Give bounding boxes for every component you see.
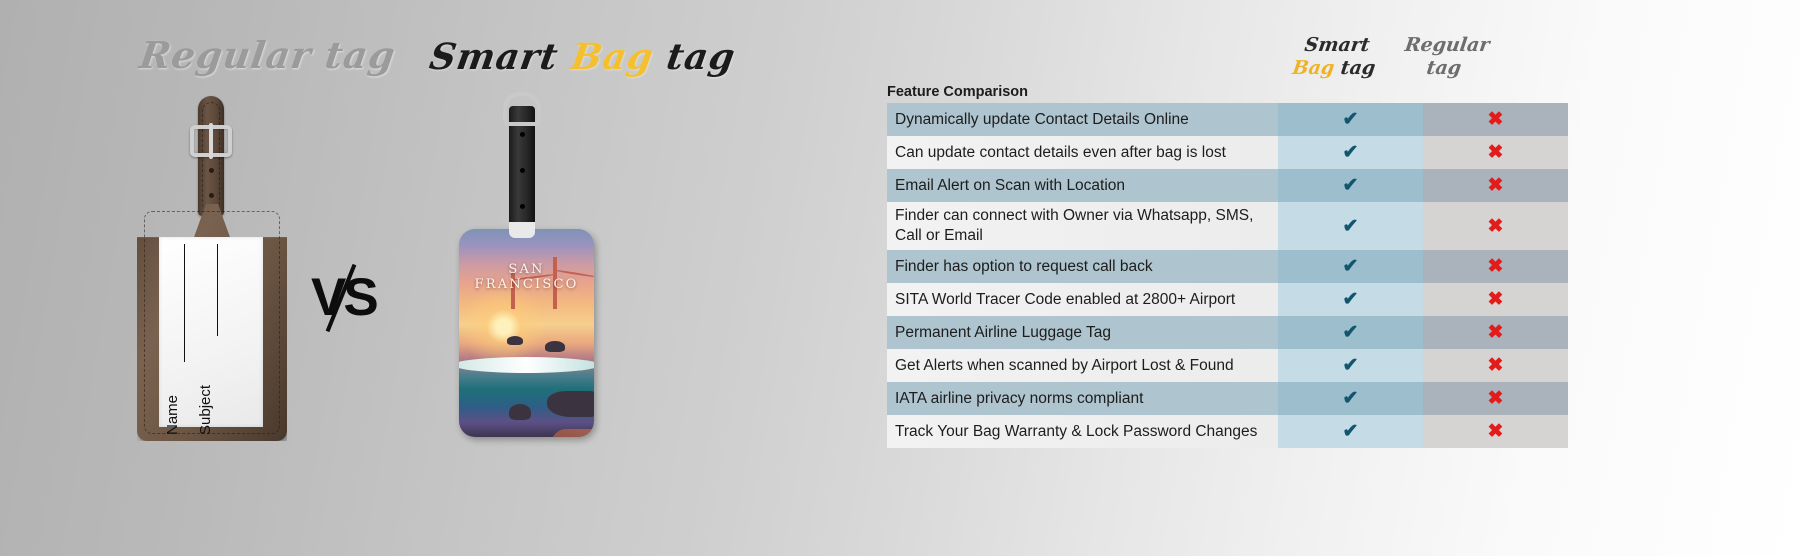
regular-tag-strap-hole (209, 193, 214, 198)
column-header-regular-word: Regular (1403, 34, 1491, 56)
regular-tag-cross-icon: ✖ (1423, 283, 1568, 316)
smart-bag-tag-image: SAN FRANCISCO (459, 92, 594, 437)
table-row: Permanent Airline Luggage Tag✔✖ (887, 316, 1568, 349)
rock-shape (547, 391, 594, 417)
smart-bag-tag-check-icon: ✔ (1278, 349, 1423, 382)
column-header-smart-word: Smart (1303, 34, 1371, 56)
smart-tag-strap-hole (520, 132, 525, 137)
smart-bag-tag-check-icon: ✔ (1278, 103, 1423, 136)
smart-title-part1: Smart (427, 36, 575, 78)
feature-comparison-panel: Smart Bag tag Regular tag Feature Compar… (880, 0, 1800, 556)
smart-tag-strap-slot (509, 222, 535, 238)
product-comparison-hero: Regular tag Smart Bag tag Name Subject V… (0, 0, 880, 556)
feature-comparison-table: Dynamically update Contact Details Onlin… (887, 103, 1568, 448)
feature-label: Permanent Airline Luggage Tag (887, 316, 1278, 349)
smart-bag-tag-title: Smart Bag tag (427, 36, 739, 78)
feature-label: IATA airline privacy norms compliant (887, 382, 1278, 415)
smart-bag-tag-check-icon: ✔ (1278, 316, 1423, 349)
column-header-bag-word: Bag (1291, 57, 1336, 79)
column-header-regular-tag-word: tag (1425, 57, 1462, 79)
smart-bag-tag-check-icon: ✔ (1278, 250, 1423, 283)
table-row: Get Alerts when scanned by Airport Lost … (887, 349, 1568, 382)
smart-title-part2: tag (650, 36, 738, 78)
table-row: Dynamically update Contact Details Onlin… (887, 103, 1568, 136)
column-header-regular-tag: Regular tag (1390, 34, 1501, 80)
feature-label: Finder can connect with Owner via Whatsa… (887, 202, 1278, 250)
regular-tag-title: Regular tag (137, 33, 399, 77)
regular-tag-cross-icon: ✖ (1423, 250, 1568, 283)
regular-tag-cross-icon: ✖ (1423, 202, 1568, 250)
table-row: Finder has option to request call back✔✖ (887, 250, 1568, 283)
smart-tag-destination-caption: SAN FRANCISCO (459, 262, 594, 292)
card-label-subject: Subject (197, 385, 214, 435)
smart-bag-tag-check-icon: ✔ (1278, 136, 1423, 169)
smart-tag-buckle-icon (503, 92, 541, 126)
feature-label: Can update contact details even after ba… (887, 136, 1278, 169)
regular-tag-cross-icon: ✖ (1423, 136, 1568, 169)
cliff-shape (550, 429, 594, 437)
regular-tag-strap-hole (209, 168, 214, 173)
card-label-name: Name (164, 395, 181, 435)
column-header-tag-word: tag (1333, 57, 1377, 79)
smart-bag-tag-check-icon: ✔ (1278, 169, 1423, 202)
smart-tag-strap-hole (520, 204, 525, 209)
feature-label: Get Alerts when scanned by Airport Lost … (887, 349, 1278, 382)
table-row: Track Your Bag Warranty & Lock Password … (887, 415, 1568, 448)
table-row: Can update contact details even after ba… (887, 136, 1568, 169)
feature-label: Track Your Bag Warranty & Lock Password … (887, 415, 1278, 448)
table-row: IATA airline privacy norms compliant✔✖ (887, 382, 1568, 415)
feature-comparison-heading: Feature Comparison (887, 84, 1028, 100)
regular-tag-cross-icon: ✖ (1423, 382, 1568, 415)
regular-tag-cross-icon: ✖ (1423, 316, 1568, 349)
feature-label: Email Alert on Scan with Location (887, 169, 1278, 202)
smart-bag-tag-check-icon: ✔ (1278, 202, 1423, 250)
smart-tag-strap-hole (520, 168, 525, 173)
feature-label: Dynamically update Contact Details Onlin… (887, 103, 1278, 136)
wave-shape (459, 357, 594, 373)
regular-tag-cross-icon: ✖ (1423, 415, 1568, 448)
table-row: Email Alert on Scan with Location✔✖ (887, 169, 1568, 202)
table-row: SITA World Tracer Code enabled at 2800+ … (887, 283, 1568, 316)
regular-tag-buckle-pin (209, 123, 213, 159)
rock-shape (509, 404, 531, 420)
column-header-smart-bag-tag: Smart Bag tag (1275, 34, 1396, 80)
regular-tag-cross-icon: ✖ (1423, 349, 1568, 382)
smart-tag-artwork (459, 229, 594, 437)
feature-label: Finder has option to request call back (887, 250, 1278, 283)
table-row: Finder can connect with Owner via Whatsa… (887, 202, 1568, 250)
card-write-line (184, 244, 185, 362)
smart-bag-tag-check-icon: ✔ (1278, 382, 1423, 415)
card-write-line (217, 244, 218, 336)
versus-badge: VS (311, 268, 369, 330)
smart-title-gold-word: Bag (568, 36, 657, 78)
smart-bag-tag-check-icon: ✔ (1278, 415, 1423, 448)
regular-tag-cross-icon: ✖ (1423, 169, 1568, 202)
rock-shape (507, 336, 523, 345)
smart-bag-tag-check-icon: ✔ (1278, 283, 1423, 316)
regular-tag-cross-icon: ✖ (1423, 103, 1568, 136)
regular-luggage-tag-image: Name Subject (137, 96, 287, 441)
rock-shape (545, 341, 565, 352)
feature-label: SITA World Tracer Code enabled at 2800+ … (887, 283, 1278, 316)
